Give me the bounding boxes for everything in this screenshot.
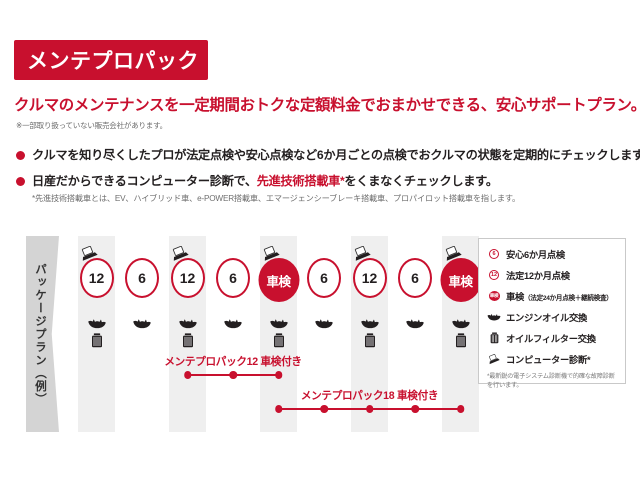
timeline-node-6[interactable]: 6 [398, 258, 432, 298]
header-banner: メンテプロパック [14, 40, 208, 80]
banner-title: メンテプロパック [14, 45, 199, 75]
legend-rows: 6安心6か月点検12法定12か月点検車検車検（法定24か月点検＋継続検査） エン… [487, 247, 618, 366]
package-bar-dot [275, 371, 283, 379]
legend-item-label: オイルフィルター交換 [506, 331, 596, 345]
legend-item: 12法定12か月点検 [487, 268, 618, 282]
oil-filter-icon [487, 332, 501, 344]
package-bar: メンテプロパック12 車検付き [188, 352, 279, 380]
shaken-node-badge: 車検 [440, 258, 481, 302]
inspection-node-badge: 12 [80, 258, 114, 298]
bullet-dot-icon [16, 151, 25, 160]
oil-filter-icon [182, 333, 194, 348]
oil-can-icon [269, 318, 288, 329]
oil-can-icon [178, 318, 197, 329]
oil-filter-icon [273, 333, 285, 348]
timeline-column: 12 [78, 236, 115, 432]
oil-filter-icon [455, 333, 467, 348]
timeline-node-車検[interactable]: 車検 [440, 258, 481, 302]
bullet-dot-icon [16, 177, 25, 186]
oil-filter-icon [182, 333, 194, 348]
laptop-diagnosis-icon [488, 354, 501, 365]
package-bar-label: メンテプロパック12 車検付き [164, 354, 301, 369]
maintenance-plan-infographic: メンテプロパック クルマのメンテナンスを一定期間おトクな定額料金でおまかせできる… [0, 0, 640, 480]
timeline-node-12[interactable]: 12 [80, 258, 114, 298]
oil-filter-icon [364, 333, 376, 348]
laptop-diagnosis-icon [262, 246, 282, 262]
oil-can-icon [360, 318, 379, 329]
legend-item-sublabel: （法定24か月点検＋継続検査） [524, 295, 613, 302]
legend-item: オイルフィルター交換 [487, 331, 618, 345]
oil-can-icon [360, 316, 379, 327]
laptop-diagnosis-icon [444, 246, 464, 262]
inspection-node-badge: 6 [398, 258, 432, 298]
package-bar-dot [411, 405, 419, 413]
laptop-diagnosis-icon [171, 246, 191, 262]
oil-filter-icon [455, 333, 467, 348]
laptop-diagnosis-icon [353, 246, 373, 262]
oil-can-icon [178, 316, 197, 327]
package-bar-label: メンテプロパック18 車検付き [301, 388, 438, 403]
lead-note: ※一部取り扱っていない販売会社があります。 [16, 120, 167, 131]
timeline-column: 12 [169, 236, 206, 432]
timeline-column: 6 [124, 236, 161, 432]
oil-can-icon [224, 316, 243, 327]
legend-item: コンピューター診断* [487, 352, 618, 366]
inspection-node-badge: 12 [353, 258, 387, 298]
oil-can-icon [87, 316, 106, 327]
bullet-footnote: *先進技術搭載車とは、EV、ハイブリッド車、e-POWER搭載車、エマージェンシ… [32, 192, 520, 204]
shaken-node-badge: 車検 [258, 258, 299, 302]
oil-can-icon [133, 316, 152, 327]
bullet-item-1: クルマを知り尽くしたプロが法定点検や安心点検など6か月ごとの点検でおクルマの状態… [16, 148, 640, 163]
oil-filter-icon [91, 333, 103, 348]
inspection-node-badge: 12 [171, 258, 205, 298]
oil-can-icon [315, 318, 334, 329]
legend-panel: 6安心6か月点検12法定12か月点検車検車検（法定24か月点検＋継続検査） エン… [478, 238, 626, 384]
package-bar-dot [320, 405, 328, 413]
oil-can-icon [269, 316, 288, 327]
oil-filter-icon [490, 332, 499, 344]
laptop-diagnosis-icon [171, 246, 191, 262]
oil-can-icon [224, 318, 243, 329]
oil-can-icon [451, 316, 470, 327]
circle-6-icon: 6 [487, 249, 501, 259]
oil-filter-icon [91, 333, 103, 348]
legend-item-label: 車検（法定24か月点検＋継続検査） [506, 289, 613, 303]
bullet-2-highlight: 先進技術搭載車* [257, 174, 345, 188]
timeline-node-6[interactable]: 6 [216, 258, 250, 298]
laptop-diagnosis-icon [353, 246, 373, 262]
timeline-node-12[interactable]: 12 [171, 258, 205, 298]
oil-can-icon [406, 318, 425, 329]
oil-can-icon [487, 313, 501, 321]
oil-can-icon [87, 318, 106, 329]
laptop-diagnosis-icon [80, 246, 100, 262]
bullet-item-2: 日産だからできるコンピューター診断で、先進技術搭載車*をくまなくチェックします。 [16, 174, 498, 189]
package-bar-dot [366, 405, 374, 413]
package-bar-dot [275, 405, 283, 413]
legend-item-label: 法定12か月点検 [506, 268, 570, 282]
oil-can-icon [315, 316, 334, 327]
circle-12-icon: 12 [487, 270, 501, 280]
laptop-diagnosis-icon [487, 354, 501, 365]
bullet-1-text: クルマを知り尽くしたプロが法定点検や安心点検など6か月ごとの点検でおクルマの状態… [32, 148, 640, 162]
laptop-diagnosis-icon [80, 246, 100, 262]
inspection-node-badge: 6 [216, 258, 250, 298]
vertical-plan-label: パッケージプラン（例） [32, 263, 48, 406]
package-bar: メンテプロパック18 車検付き [279, 386, 461, 414]
package-bar-dot [229, 371, 237, 379]
timeline-column: 6 [215, 236, 252, 432]
oil-can-icon [487, 313, 501, 321]
oil-can-icon [406, 316, 425, 327]
timeline-node-車検[interactable]: 車検 [258, 258, 299, 302]
bullet-2-text-after: をくまなくチェックします。 [344, 174, 497, 188]
legend-item: 6安心6か月点検 [487, 247, 618, 261]
legend-item-label: 安心6か月点検 [506, 247, 565, 261]
legend-item-label: エンジンオイル交換 [506, 310, 587, 324]
laptop-diagnosis-icon [262, 246, 282, 262]
bullet-text-1: クルマを知り尽くしたプロが法定点検や安心点検など6か月ごとの点検でおクルマの状態… [32, 148, 640, 163]
timeline-node-6[interactable]: 6 [307, 258, 341, 298]
shaken-badge-icon: 車検 [487, 291, 501, 301]
timeline-node-12[interactable]: 12 [353, 258, 387, 298]
oil-filter-icon [364, 333, 376, 348]
oil-can-icon [133, 318, 152, 329]
bullet-2-text-before: 日産だからできるコンピューター診断で、 [32, 174, 257, 188]
legend-item: 車検車検（法定24か月点検＋継続検査） [487, 289, 618, 303]
legend-item: エンジンオイル交換 [487, 310, 618, 324]
legend-footnote: *最新鋭の電子システム診断機で的確な故障診断を行います。 [487, 373, 618, 391]
legend-item-label: コンピューター診断* [506, 352, 590, 366]
lead-headline: クルマのメンテナンスを一定期間おトクな定額料金でおまかせできる、安心サポートプラ… [14, 93, 628, 115]
bullet-text-2: 日産だからできるコンピューター診断で、先進技術搭載車*をくまなくチェックします。 [32, 174, 498, 189]
vertical-plan-banner: パッケージプラン（例） [26, 236, 59, 432]
package-bar-dot [184, 371, 192, 379]
inspection-node-badge: 6 [125, 258, 159, 298]
inspection-node-badge: 6 [307, 258, 341, 298]
timeline-node-6[interactable]: 6 [125, 258, 159, 298]
laptop-diagnosis-icon [444, 246, 464, 262]
oil-filter-icon [273, 333, 285, 348]
package-bar-dot [457, 405, 465, 413]
oil-can-icon [451, 318, 470, 329]
